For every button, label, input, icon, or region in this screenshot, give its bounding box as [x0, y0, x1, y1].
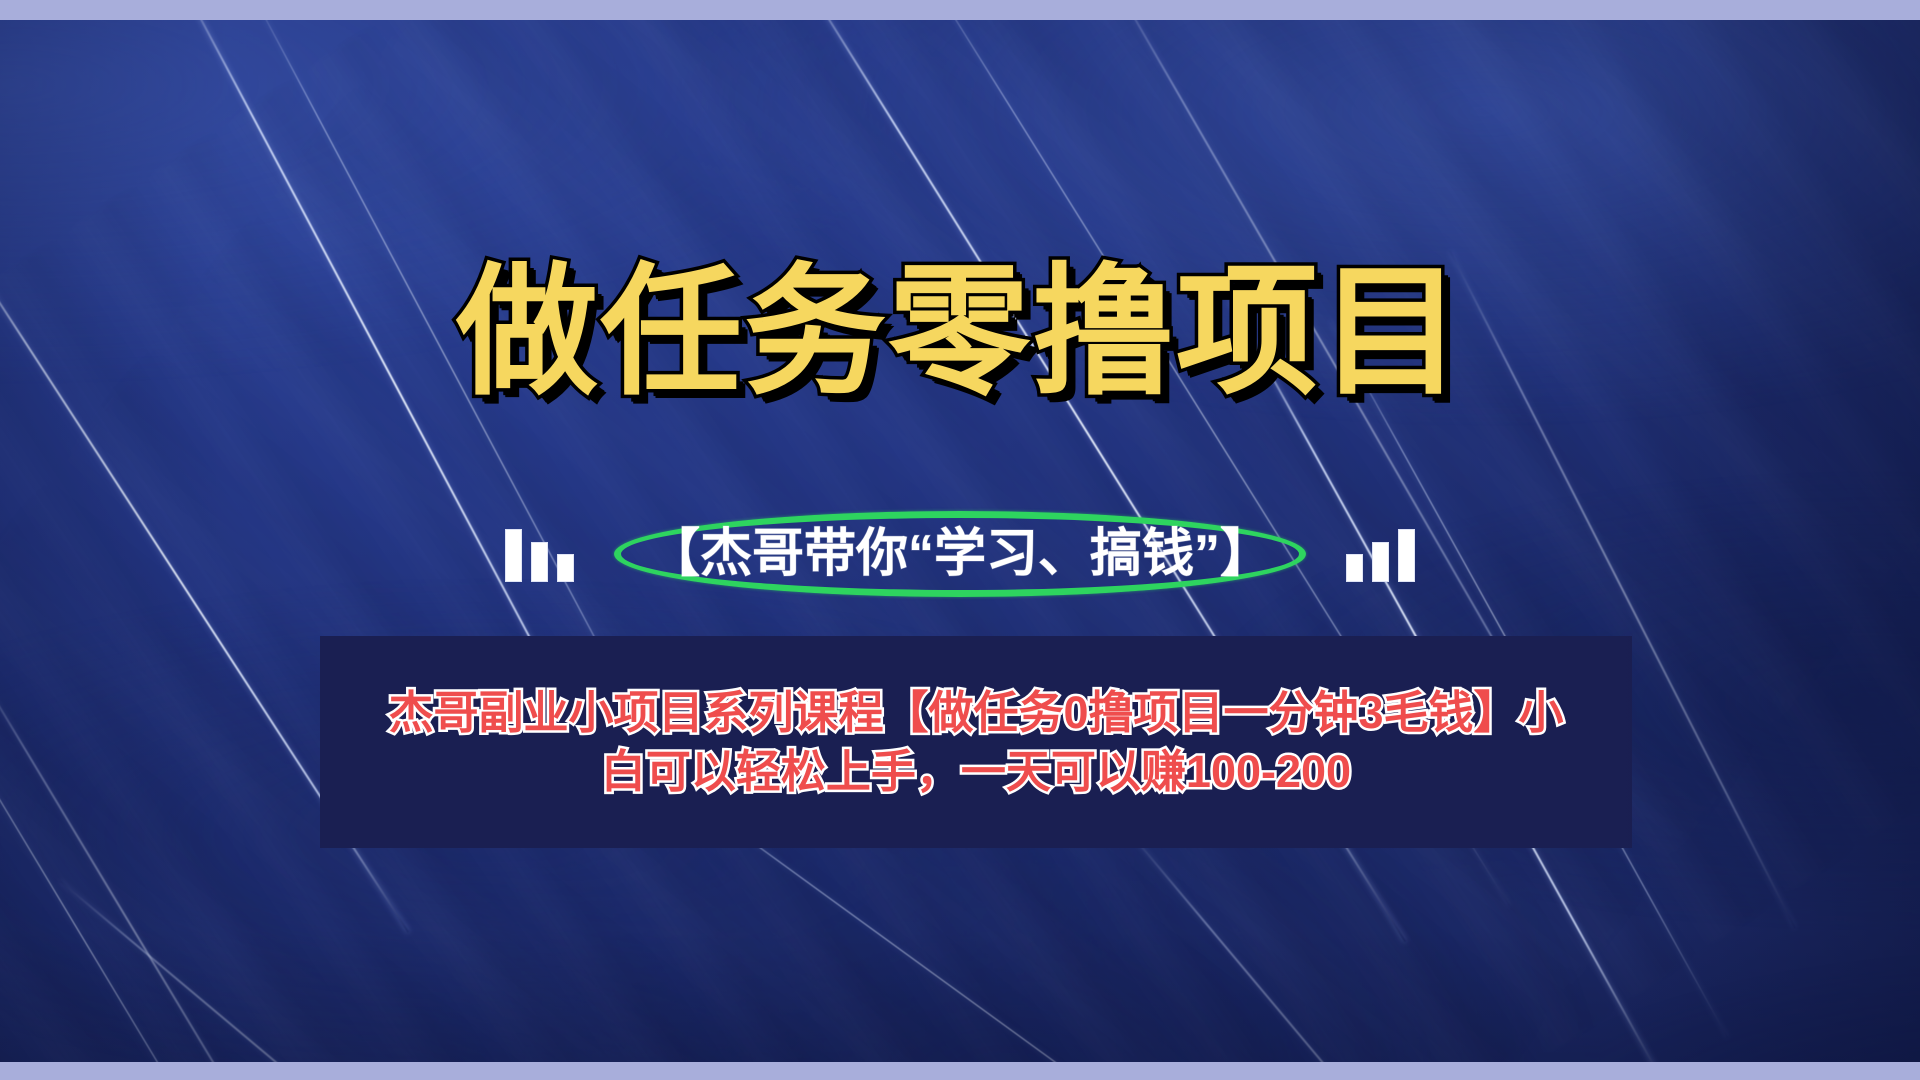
- top-accent-band: [0, 0, 1920, 20]
- bar-segment: [531, 542, 548, 582]
- bar-segment: [1372, 542, 1389, 582]
- bar-segment: [1398, 529, 1415, 582]
- main-title: 做任务零撸项目: [0, 262, 1920, 404]
- bar-chart-ascending-icon: [1346, 526, 1415, 582]
- bar-segment: [557, 554, 574, 582]
- poster-content: 做任务零撸项目 【杰哥带你“学习、搞钱”】 杰哥副业小项目系列课程【做任务0撸项…: [0, 0, 1920, 1080]
- description-panel: 杰哥副业小项目系列课程【做任务0撸项目一分钟3毛钱】小白可以轻松上手，一天可以赚…: [320, 636, 1632, 848]
- poster-canvas: 做任务零撸项目 【杰哥带你“学习、搞钱”】 杰哥副业小项目系列课程【做任务0撸项…: [0, 0, 1920, 1080]
- bar-segment: [1346, 554, 1363, 582]
- subtitle-row: 【杰哥带你“学习、搞钱”】: [0, 506, 1920, 602]
- subtitle-highlight-group: 【杰哥带你“学习、搞钱”】: [614, 521, 1306, 588]
- subtitle-text: 【杰哥带你“学习、搞钱”】: [648, 527, 1272, 582]
- bar-chart-descending-icon: [505, 526, 574, 582]
- bar-segment: [505, 529, 522, 582]
- description-text: 杰哥副业小项目系列课程【做任务0撸项目一分钟3毛钱】小白可以轻松上手，一天可以赚…: [366, 683, 1586, 802]
- bottom-accent-band: [0, 1062, 1920, 1080]
